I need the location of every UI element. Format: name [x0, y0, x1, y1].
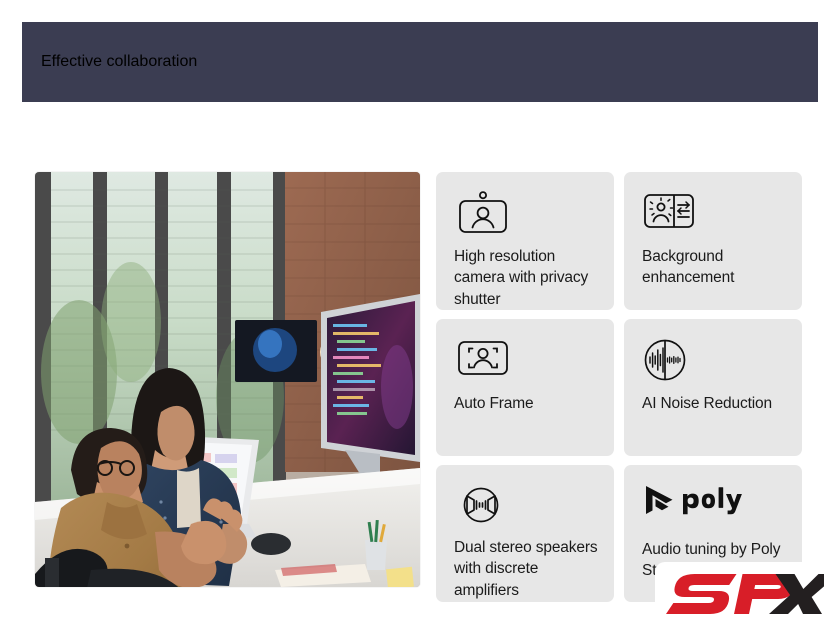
feature-card-label: High resolution camera with privacy shut…	[454, 246, 598, 310]
hero-photo	[35, 172, 420, 587]
page-title: Effective collaboration	[41, 53, 197, 71]
header-banner: Effective collaboration	[22, 22, 818, 102]
background-enhancement-icon	[642, 190, 786, 236]
auto-frame-icon	[454, 337, 598, 383]
ai-noise-reduction-icon	[642, 337, 786, 383]
feature-card-label: Auto Frame	[454, 393, 598, 414]
feature-card-grid: High resolution camera with privacy shut…	[436, 172, 806, 592]
feature-card-background-enhancement[interactable]: Background enhancement	[624, 172, 802, 310]
spx-watermark	[655, 562, 831, 625]
camera-privacy-shutter-icon	[454, 190, 598, 236]
feature-card-auto-frame[interactable]: Auto Frame	[436, 319, 614, 456]
feature-card-dual-stereo-speakers[interactable]: Dual stereo speakers with discrete ampli…	[436, 465, 614, 602]
dual-stereo-speakers-icon	[454, 483, 598, 527]
spx-logo-icon	[662, 567, 824, 621]
feature-card-label: AI Noise Reduction	[642, 393, 786, 414]
feature-card-label: Dual stereo speakers with discrete ampli…	[454, 537, 598, 601]
feature-card-ai-noise-reduction[interactable]: AI Noise Reduction	[624, 319, 802, 456]
office-collaboration-photo	[35, 172, 420, 587]
feature-card-label: Background enhancement	[642, 246, 786, 289]
feature-card-high-resolution-camera[interactable]: High resolution camera with privacy shut…	[436, 172, 614, 310]
content-area: High resolution camera with privacy shut…	[0, 102, 840, 627]
poly-logo-icon	[642, 483, 786, 529]
